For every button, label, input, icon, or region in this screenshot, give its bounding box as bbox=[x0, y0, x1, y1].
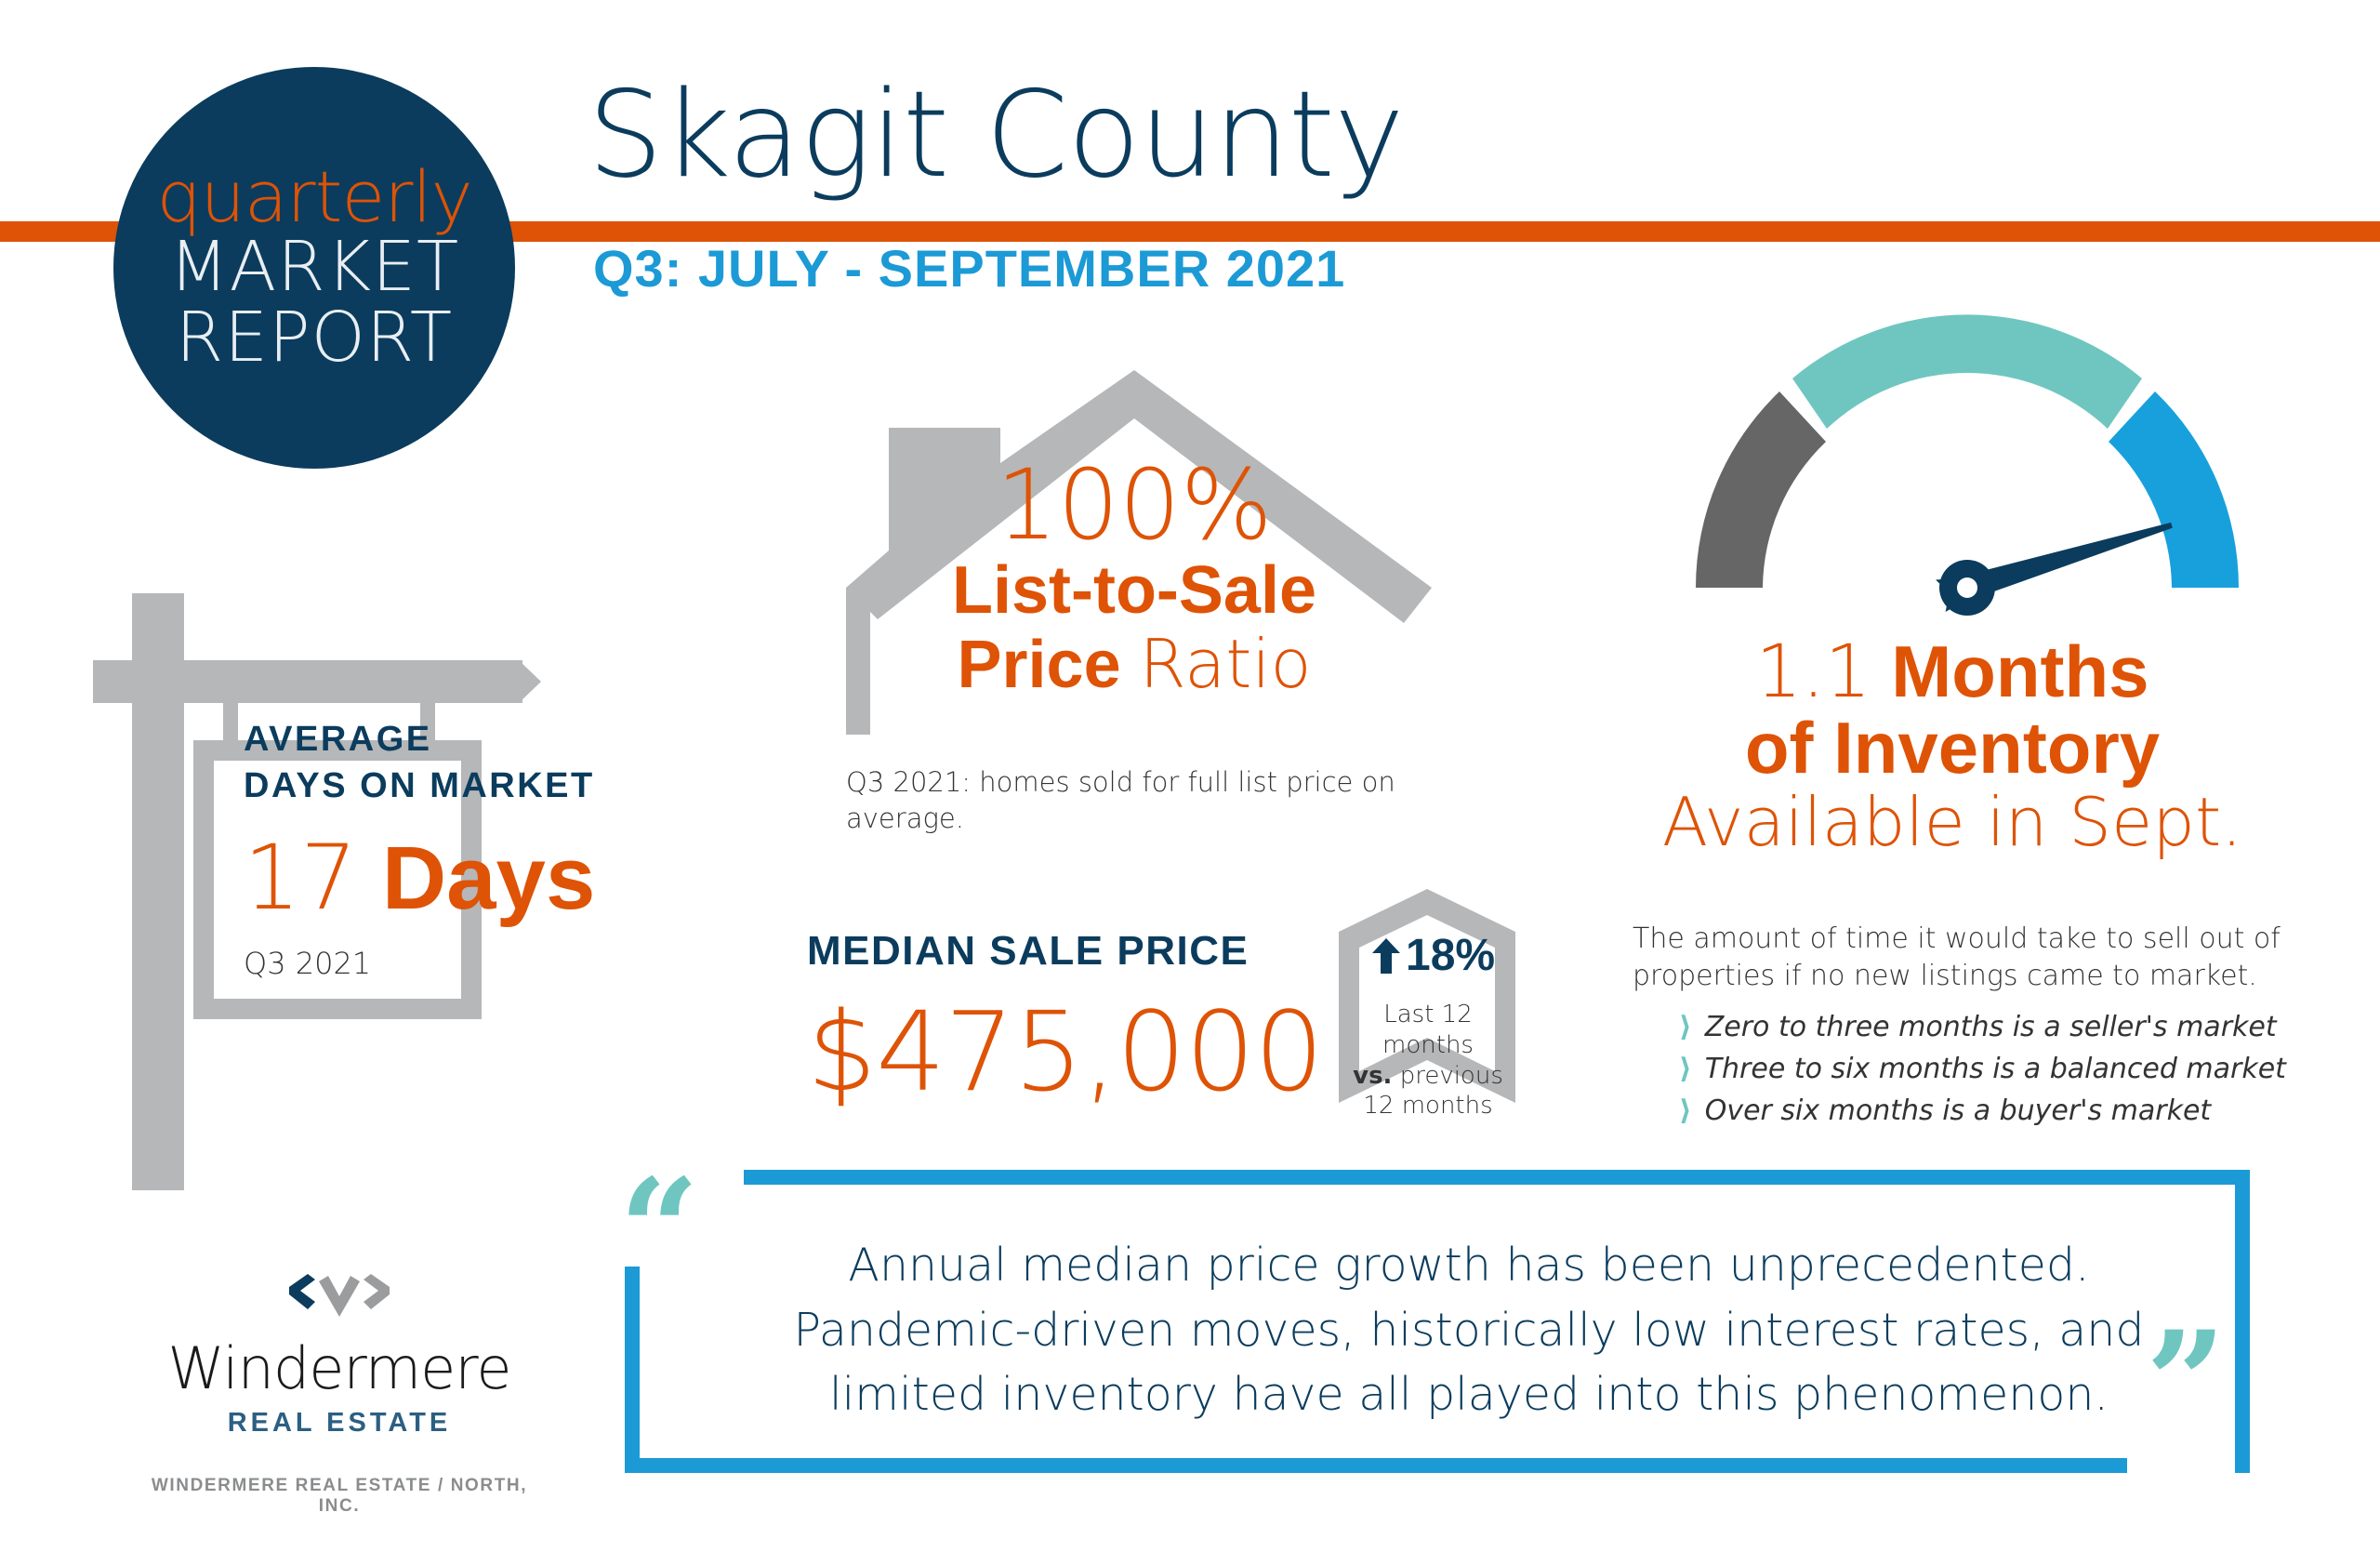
price-change-vs: vs. bbox=[1353, 1062, 1392, 1090]
gauge-label-buyers: BUYER'S MARKET bbox=[1660, 281, 1799, 577]
price-change-row: 18% bbox=[1372, 930, 1540, 981]
chevron-right-icon: ⟩ bbox=[1679, 1048, 1692, 1090]
inventory-line3: Available in Sept. bbox=[1627, 786, 2278, 859]
sign-arm-tip bbox=[519, 660, 541, 703]
windermere-w-mark-icon bbox=[280, 1272, 399, 1324]
up-arrow-icon bbox=[1372, 938, 1400, 974]
sign-arm-left bbox=[93, 660, 152, 703]
price-change-percent: 18% bbox=[1406, 930, 1495, 981]
list-item: ⟩ Zero to three months is a seller's mar… bbox=[1679, 1006, 2293, 1048]
days-on-market-period: Q3 2021 bbox=[244, 946, 764, 981]
inventory-line1: 1.1 Months bbox=[1627, 634, 2278, 710]
price-change-note-line1: Last 12 months bbox=[1346, 1000, 1510, 1061]
price-change-note-line2: vs. previous bbox=[1346, 1061, 1510, 1092]
median-sale-price-label: MEDIAN SALE PRICE bbox=[807, 928, 1249, 975]
windermere-tagline: REAL ESTATE bbox=[144, 1408, 535, 1439]
list-to-sale-ratio-word: Ratio bbox=[1140, 625, 1312, 703]
inventory-available-word: Available bbox=[1662, 783, 1965, 861]
days-on-market-label: AVERAGE DAYS ON MARKET bbox=[244, 716, 764, 809]
list-to-sale-note: Q3 2021: homes sold for full list price … bbox=[846, 764, 1404, 837]
list-to-sale-line1: List-to-Sale bbox=[874, 554, 1395, 628]
price-change-prev: previous bbox=[1392, 1062, 1502, 1090]
days-on-market-block: AVERAGE DAYS ON MARKET 17 Days Q3 2021 bbox=[244, 716, 764, 981]
inventory-line2: of Inventory bbox=[1627, 710, 2278, 786]
days-on-market-unit: Days bbox=[382, 829, 596, 928]
chevron-right-icon: ⟩ bbox=[1679, 1006, 1692, 1048]
chevron-right-icon: ⟩ bbox=[1679, 1090, 1692, 1132]
quote-border-bottom bbox=[625, 1458, 2127, 1473]
price-change-note: Last 12 months vs. previous 12 months bbox=[1346, 1000, 1510, 1121]
list-to-sale-percent: 100% bbox=[874, 456, 1395, 554]
inventory-headline: 1.1 Months of Inventory Available in Sep… bbox=[1627, 634, 2278, 859]
list-to-sale-price-word: Price bbox=[957, 628, 1120, 702]
quote-text: Annual median price growth has been unpr… bbox=[762, 1233, 2175, 1427]
inventory-bullet-list: ⟩ Zero to three months is a seller's mar… bbox=[1679, 1006, 2293, 1132]
windermere-wordmark: Windermere bbox=[144, 1334, 535, 1402]
gauge-hub-center bbox=[1957, 577, 1977, 598]
badge-line-quarterly: quarterly bbox=[156, 163, 471, 232]
inventory-unit: Months bbox=[1891, 630, 2149, 712]
badge-line-report: REPORT bbox=[176, 302, 453, 373]
inventory-value: 1.1 bbox=[1756, 630, 1871, 714]
days-on-market-value-row: 17 Days bbox=[244, 833, 764, 923]
sign-arm-right bbox=[184, 660, 522, 703]
list-item-label: Zero to three months is a seller's marke… bbox=[1705, 1006, 2277, 1048]
windermere-logo: Windermere REAL ESTATE WINDERMERE REAL E… bbox=[144, 1272, 535, 1517]
days-on-market-label-line2: DAYS ON MARKET bbox=[244, 763, 764, 809]
market-condition-gauge: BUYER'S MARKET BALANCED SELLER'S MARKET bbox=[1660, 281, 2274, 653]
inventory-month-word: in Sept. bbox=[1987, 783, 2242, 861]
sign-hanger-left bbox=[223, 703, 238, 742]
quote-open-mark-icon: “ bbox=[619, 1161, 699, 1300]
page-subtitle-period: Q3: JULY - SEPTEMBER 2021 bbox=[593, 238, 1345, 298]
price-change-note-line3: 12 months bbox=[1346, 1091, 1510, 1121]
quote-border-top bbox=[744, 1170, 2250, 1185]
list-item: ⟩ Over six months is a buyer's market bbox=[1679, 1090, 2293, 1132]
page-title: Skagit County bbox=[588, 67, 1404, 204]
inventory-description: The amount of time it would take to sell… bbox=[1633, 921, 2283, 995]
quarterly-market-report-badge: quarterly MARKET REPORT bbox=[113, 67, 515, 469]
quote-border-right bbox=[2235, 1170, 2250, 1473]
list-item-label: Three to six months is a balanced market bbox=[1705, 1048, 2286, 1090]
list-item: ⟩ Three to six months is a balanced mark… bbox=[1679, 1048, 2293, 1090]
badge-line-market: MARKET bbox=[169, 232, 459, 302]
gauge-segment-balanced bbox=[1792, 314, 2142, 429]
days-on-market-label-line1: AVERAGE bbox=[244, 716, 764, 763]
days-on-market-value: 17 bbox=[244, 826, 357, 930]
list-to-sale-ratio-block: 100% List-to-Sale Price Ratio bbox=[874, 456, 1395, 702]
windermere-office-line: WINDERMERE REAL ESTATE / NORTH, INC. bbox=[144, 1476, 535, 1517]
median-sale-price-value: $475,000 bbox=[807, 988, 1323, 1116]
list-to-sale-line2: Price Ratio bbox=[874, 628, 1395, 702]
list-item-label: Over six months is a buyer's market bbox=[1705, 1090, 2211, 1132]
